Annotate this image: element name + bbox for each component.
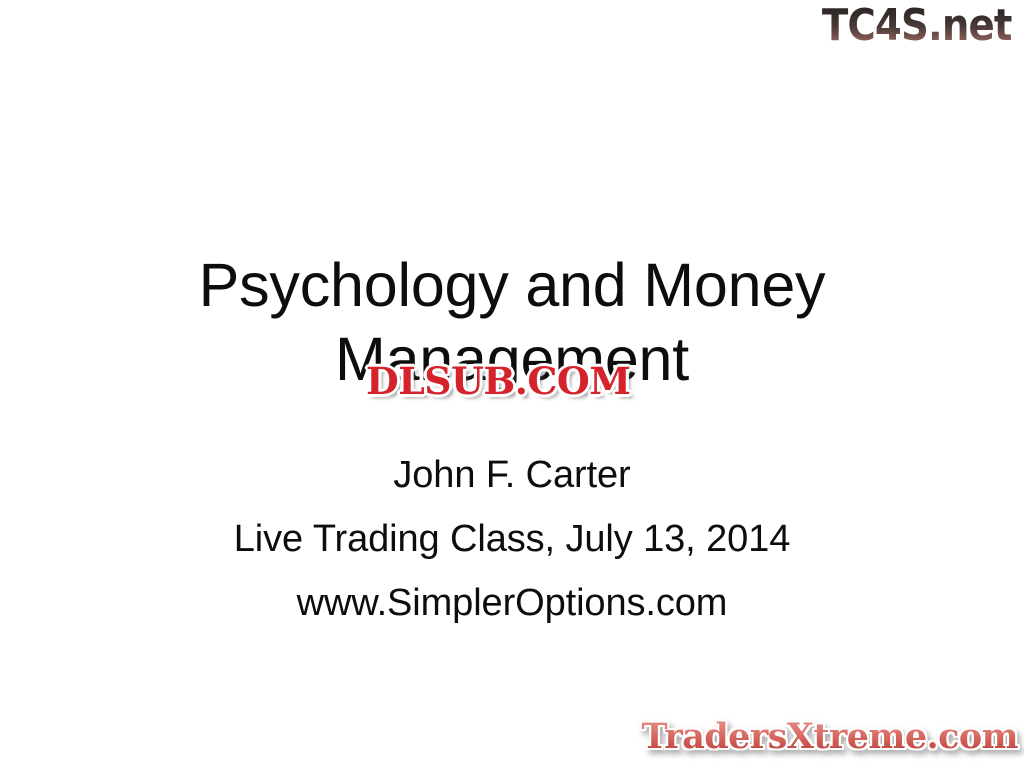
subtitle-event: Live Trading Class, July 13, 2014 (0, 507, 1024, 571)
subtitle-presenter: John F. Carter (0, 443, 1024, 507)
watermark-tc4s-logo: TC4S.net (822, 2, 1012, 50)
subtitle-website: www.SimplerOptions.com (0, 571, 1024, 635)
presentation-slide: TC4S.net Psychology and Money Management… (0, 0, 1024, 768)
watermark-dlsub-logo: DLSUB.COM (366, 360, 631, 402)
slide-title-line-1: Psychology and Money (0, 248, 1024, 322)
watermark-tradersxtreme-logo: TradersXtreme.com (641, 716, 1018, 758)
slide-subtitle: John F. Carter Live Trading Class, July … (0, 443, 1024, 635)
